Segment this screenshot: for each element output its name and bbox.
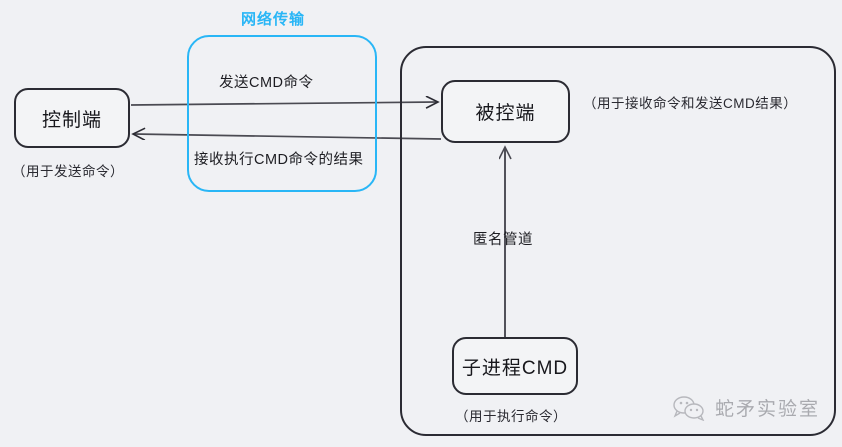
watermark: 蛇矛实验室 (672, 394, 820, 421)
diagram-canvas: 网络传输 控制端 （用于发送命令） 被控端 （用于接收命令和发送CMD结果） 子… (0, 0, 842, 447)
node-child-process-label: 子进程CMD (462, 353, 568, 380)
node-child-process[interactable]: 子进程CMD (452, 337, 578, 395)
node-controller-label: 控制端 (42, 105, 102, 132)
wechat-icon (672, 395, 706, 421)
node-controller[interactable]: 控制端 (14, 88, 130, 148)
edge-label-send-cmd: 发送CMD命令 (219, 71, 314, 92)
edge-label-pipe: 匿名管道 (473, 228, 533, 249)
node-victim[interactable]: 被控端 (441, 80, 570, 143)
watermark-text: 蛇矛实验室 (715, 394, 820, 421)
node-child-process-caption: （用于执行命令） (455, 405, 567, 425)
network-group-title: 网络传输 (241, 8, 305, 29)
edge-label-recv-result: 接收执行CMD命令的结果 (194, 148, 364, 169)
node-victim-caption: （用于接收命令和发送CMD结果） (583, 92, 797, 112)
node-controller-caption: （用于发送命令） (12, 160, 124, 180)
node-victim-label: 被控端 (475, 98, 535, 125)
